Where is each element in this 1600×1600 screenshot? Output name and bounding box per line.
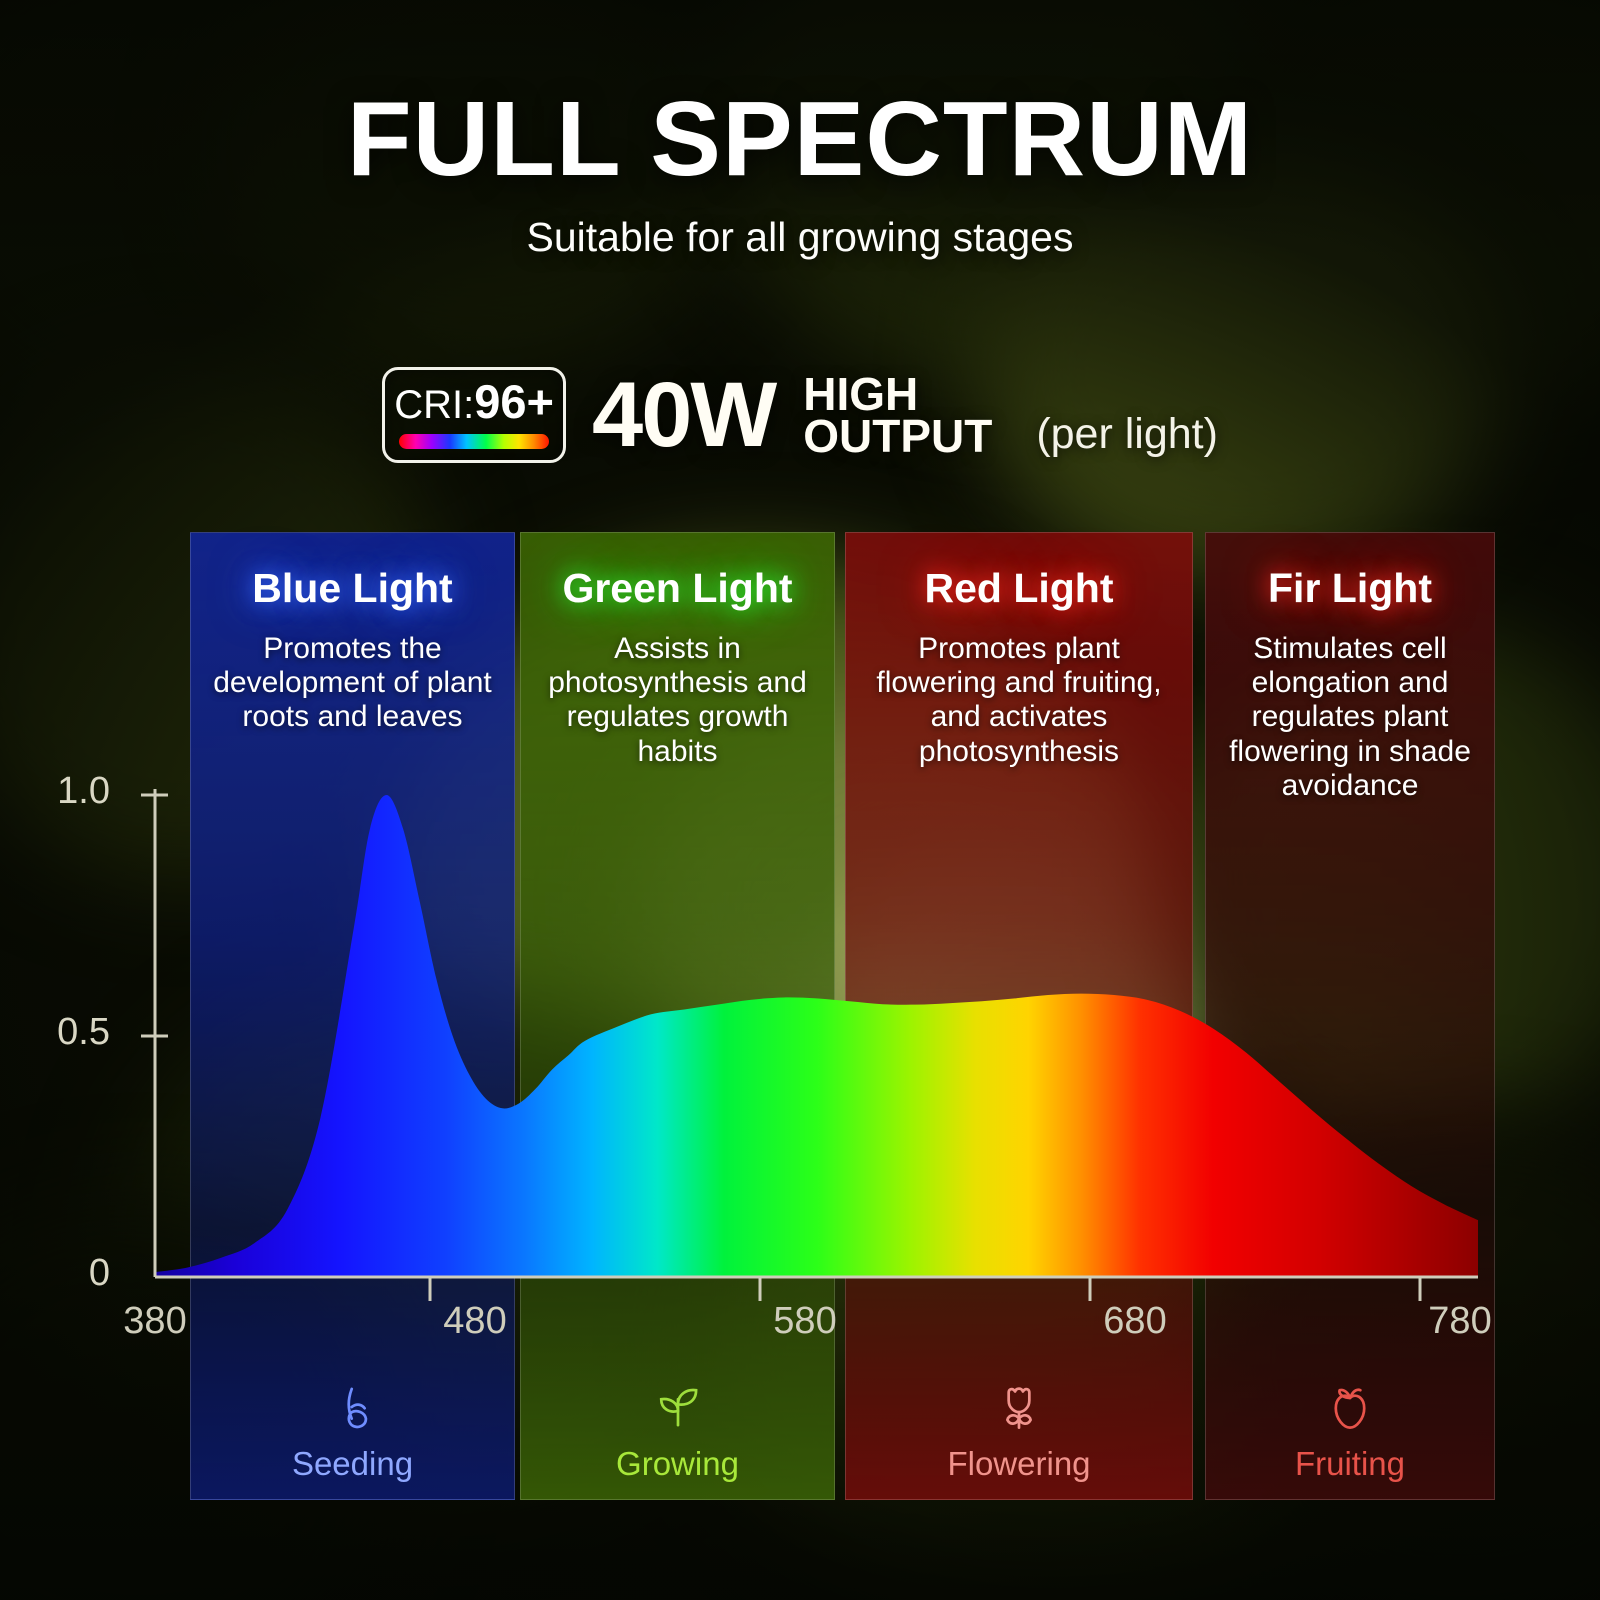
- x-tick-label-780: 780: [1390, 1300, 1530, 1343]
- per-light-note: (per light): [1036, 410, 1218, 463]
- page-title: FULL SPECTRUM: [0, 86, 1600, 192]
- cri-value: 96+: [474, 375, 554, 428]
- panel-description: Assists in photosynthesis and regulates …: [521, 632, 834, 769]
- high-output-line2: OUTPUT: [803, 415, 992, 457]
- stage-label: Seeding: [292, 1445, 413, 1483]
- wattage-value: 40W: [592, 374, 775, 457]
- panel-description: Promotes the development of plant roots …: [191, 632, 514, 735]
- sprouting-seed-icon: [322, 1376, 384, 1443]
- tulip-flower-icon: [988, 1376, 1050, 1443]
- y-tick-label-1: 1.0: [0, 770, 110, 813]
- high-output-line1: HIGH: [803, 373, 992, 415]
- panel-description: Stimulates cell elongation and regulates…: [1206, 632, 1494, 803]
- panel-title: Fir Light: [1268, 567, 1432, 610]
- stage-label: Flowering: [947, 1445, 1090, 1483]
- y-tick-label-0: 0: [0, 1252, 110, 1295]
- y-tick-label-05: 0.5: [0, 1011, 110, 1054]
- cri-badge: CRI:96+: [382, 367, 566, 463]
- stage-block: Growing: [521, 1376, 834, 1483]
- panel-title: Blue Light: [252, 567, 452, 610]
- stage-label: Growing: [616, 1445, 739, 1483]
- high-output-label: HIGH OUTPUT: [803, 373, 992, 458]
- stage-block: Fruiting: [1206, 1376, 1494, 1483]
- x-tick-label-480: 480: [405, 1300, 545, 1343]
- panel-red-light[interactable]: Red Light Promotes plant flowering and f…: [845, 532, 1193, 1500]
- stage-block: Flowering: [846, 1376, 1192, 1483]
- panel-blue-light[interactable]: Blue Light Promotes the development of p…: [190, 532, 515, 1500]
- panel-title: Red Light: [924, 567, 1113, 610]
- cri-label: CRI:96+: [394, 378, 554, 425]
- header: FULL SPECTRUM Suitable for all growing s…: [0, 0, 1600, 261]
- apple-fruit-icon: [1319, 1376, 1381, 1443]
- panel-description: Promotes plant flowering and fruiting, a…: [846, 632, 1192, 769]
- panel-green-light[interactable]: Green Light Assists in photosynthesis an…: [520, 532, 835, 1500]
- x-tick-label-380: 380: [85, 1300, 225, 1343]
- x-tick-label-580: 580: [735, 1300, 875, 1343]
- stage-label: Fruiting: [1295, 1445, 1405, 1483]
- rainbow-gradient-bar-icon: [399, 434, 549, 449]
- spec-row: CRI:96+ 40W HIGH OUTPUT (per light): [0, 367, 1600, 463]
- page-subtitle: Suitable for all growing stages: [0, 214, 1600, 261]
- stage-block: Seeding: [191, 1376, 514, 1483]
- cri-prefix: CRI:: [394, 383, 474, 427]
- x-tick-label-680: 680: [1065, 1300, 1205, 1343]
- panel-fir-light[interactable]: Fir Light Stimulates cell elongation and…: [1205, 532, 1495, 1500]
- panel-title: Green Light: [562, 567, 792, 610]
- seedling-sprout-icon: [647, 1376, 709, 1443]
